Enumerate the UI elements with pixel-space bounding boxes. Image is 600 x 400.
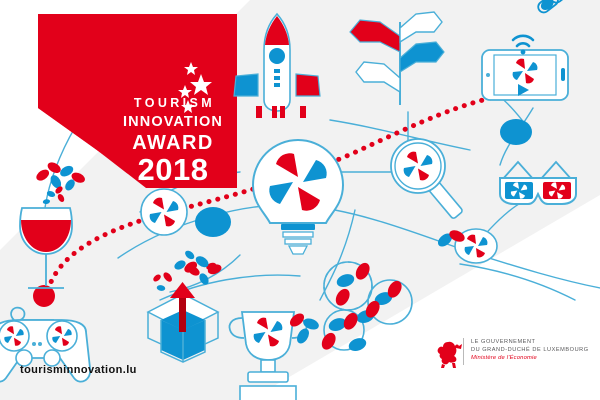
gov-line-3: Ministère de l'Économie bbox=[471, 355, 589, 363]
circle-pinwheel-icon bbox=[141, 189, 187, 235]
government-logo: LE GOUVERNEMENT DU GRAND-DUCHÉ DE LUXEMB… bbox=[432, 336, 589, 366]
lion-emblem-spacer bbox=[432, 336, 456, 366]
logo-divider bbox=[463, 338, 464, 365]
gov-line-2: DU GRAND-DUCHÉ DE LUXEMBOURG bbox=[471, 347, 589, 355]
gov-line-1: LE GOUVERNEMENT bbox=[471, 339, 589, 347]
blue-ellipse-2 bbox=[500, 119, 532, 145]
tourism-innovation-award-poster: TOURISM INNOVATION AWARD 2018 tourisminn… bbox=[0, 0, 600, 400]
blue-ellipse bbox=[195, 207, 231, 237]
government-logo-text: LE GOUVERNEMENT DU GRAND-DUCHÉ DE LUXEMB… bbox=[471, 339, 589, 362]
website-url[interactable]: tourisminnovation.lu bbox=[20, 364, 137, 376]
